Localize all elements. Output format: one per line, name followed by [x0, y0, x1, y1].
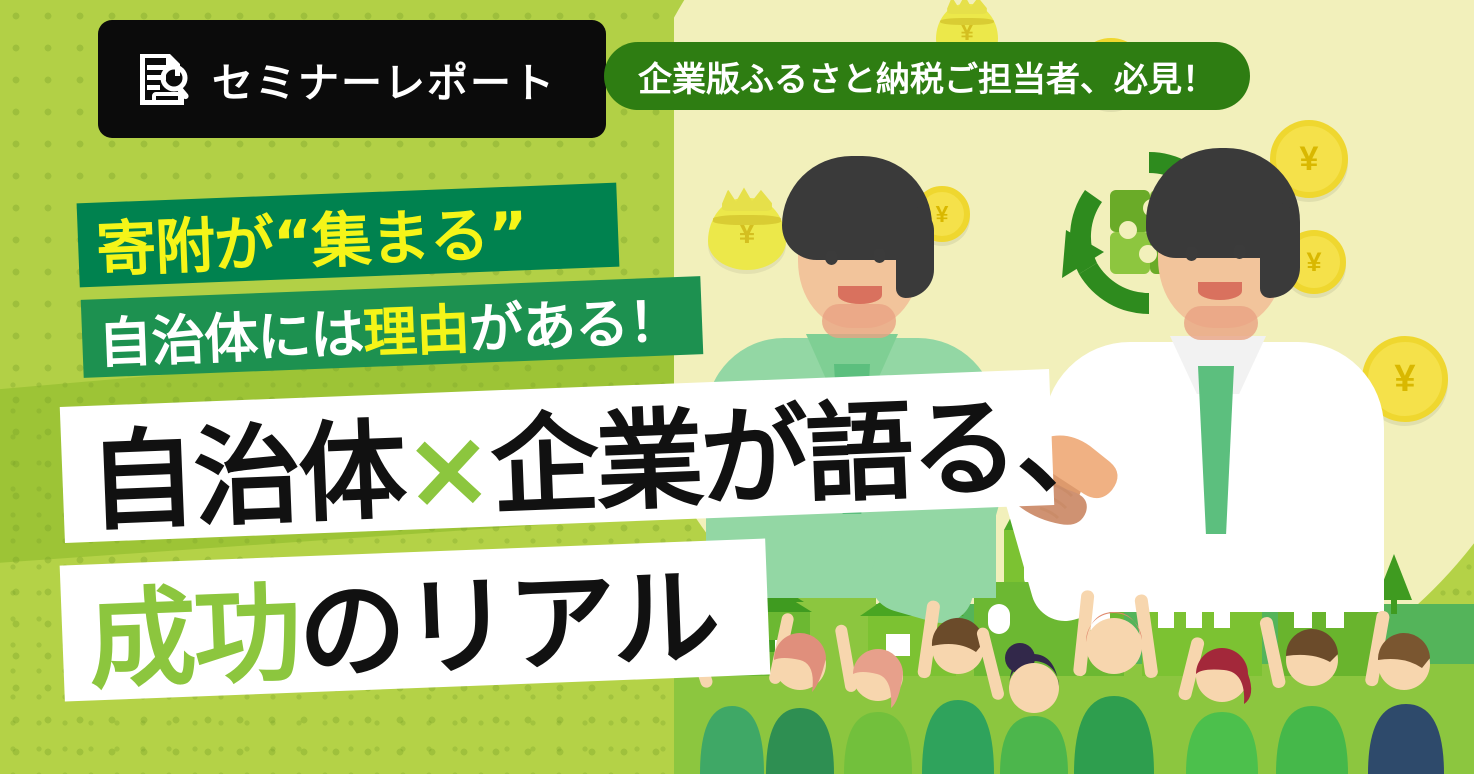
mouth — [838, 286, 882, 304]
subheadline-line2-highlight: 理由 — [362, 298, 470, 365]
cheering-crowd-illustration — [674, 584, 1474, 774]
hair-sideburn — [1260, 202, 1300, 298]
headline-line2-black: のリアル — [296, 555, 719, 696]
audience-pill: 企業版ふるさと納税ご担当者、必見！ — [604, 42, 1250, 110]
headline-line1-part2: 企業が語る、 — [489, 381, 1123, 530]
mouth — [1198, 282, 1242, 300]
neck-shadow — [822, 304, 896, 338]
audience-pill-label: 企業版ふるさと納税ご担当者、必見！ — [638, 52, 1216, 101]
seminar-report-tag: セミナーレポート — [98, 20, 606, 138]
headline-line2-green: 成功 — [86, 572, 301, 705]
eyebrow-left — [1178, 228, 1208, 234]
seminar-report-banner: ¥ ¥ ¥ ¥ ¥ ¥ ¥ — [0, 0, 1474, 774]
neck-shadow — [1184, 306, 1258, 340]
headline-line2: 成功のリアル — [85, 530, 719, 710]
headline-band-1: 自治体×企業が語る、 — [60, 369, 1054, 543]
headline-line1-part1: 自治体 — [86, 409, 406, 546]
eyebrow-right — [866, 230, 896, 236]
subheadline-line2-suffix: がある！ — [468, 289, 682, 360]
headline-cross-icon: × — [401, 406, 493, 534]
eyebrow-right — [1226, 226, 1256, 232]
eye-right — [873, 248, 886, 263]
eye-left — [1185, 246, 1198, 261]
eye-left — [825, 250, 838, 265]
headline-band-2: 成功のリアル — [60, 538, 771, 701]
seminar-report-label: セミナーレポート — [212, 49, 556, 109]
subheadline-line1: 寄附が“集まる” — [95, 185, 529, 288]
money-bag-tie — [940, 18, 995, 26]
hair-sideburn — [896, 206, 934, 298]
eye-right — [1233, 244, 1246, 259]
document-magnifier-icon — [132, 48, 194, 110]
eyebrow-left — [818, 232, 848, 238]
subheadline-line2-prefix: 自治体には — [97, 302, 364, 375]
